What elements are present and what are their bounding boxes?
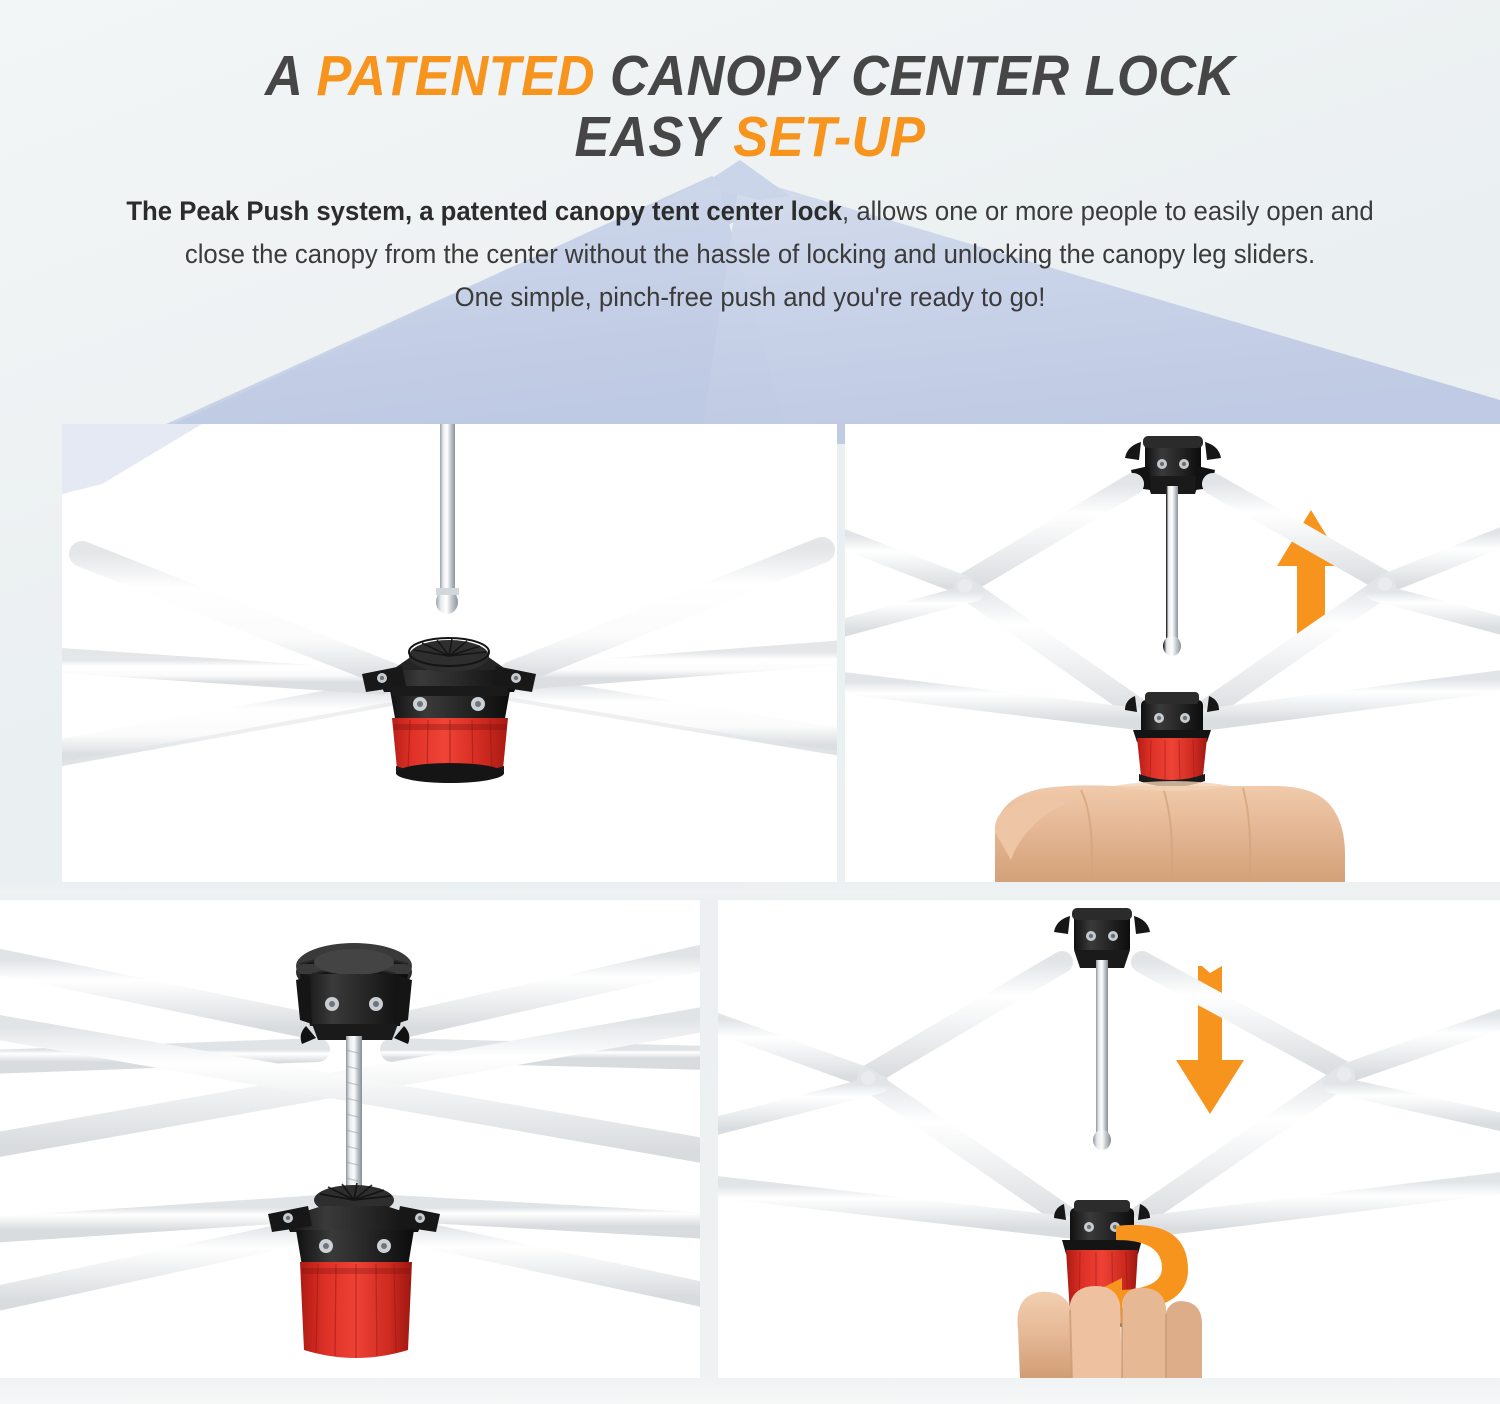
description-paragraph: The Peak Push system, a patented canopy … (115, 190, 1386, 319)
title-highlight-setup: SET-UP (733, 105, 925, 169)
panel-bottom-left (0, 900, 700, 1378)
description-last-line: One simple, pinch-free push and you're r… (455, 282, 1046, 312)
panel-bottom-left-image (0, 900, 700, 1378)
title-block: A PATENTED CANOPY CENTER LOCK EASY SET-U… (0, 0, 1500, 168)
infographic-page: A PATENTED CANOPY CENTER LOCK EASY SET-U… (0, 0, 1500, 1404)
title-part-easy: EASY (575, 105, 734, 169)
panel-top-left (62, 424, 837, 882)
panel-top-right-image (845, 424, 1500, 882)
panel-bottom-right (718, 900, 1500, 1378)
photo-panel-grid (0, 424, 1500, 1384)
title-part-post: CANOPY CENTER LOCK (595, 44, 1235, 108)
page-title-line-2: EASY SET-UP (60, 107, 1440, 168)
panel-bottom-right-image (718, 900, 1500, 1378)
panel-top-left-image (62, 424, 837, 882)
gripping-hand (1017, 1292, 1074, 1378)
description-bold-lead: The Peak Push system, a patented canopy … (126, 196, 842, 226)
title-part-pre: A (265, 44, 316, 108)
page-title-line-1: A PATENTED CANOPY CENTER LOCK (60, 46, 1440, 107)
title-highlight-patented: PATENTED (316, 44, 595, 108)
panel-top-right (845, 424, 1500, 882)
header: A PATENTED CANOPY CENTER LOCK EASY SET-U… (0, 0, 1500, 319)
